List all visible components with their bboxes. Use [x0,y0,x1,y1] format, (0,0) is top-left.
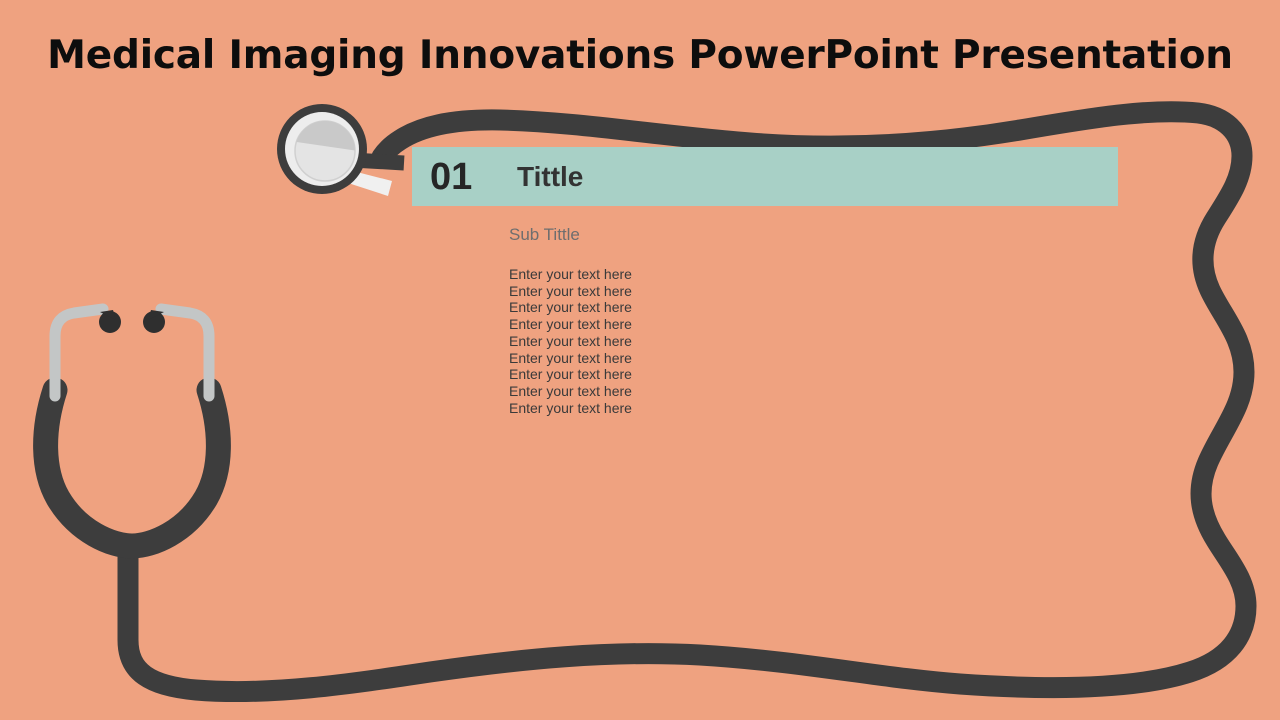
body-text-line: Enter your text here [509,283,632,300]
body-text-line: Enter your text here [509,266,632,283]
body-text-line: Enter your text here [509,333,632,350]
body-text-line: Enter your text here [509,366,632,383]
page-title: Medical Imaging Innovations PowerPoint P… [0,33,1280,78]
body-text-line: Enter your text here [509,299,632,316]
sub-title: Sub Tittle [509,224,580,246]
section-title-label: Tittle [517,161,583,193]
slide-artwork [0,0,1280,720]
presentation-slide: Medical Imaging Innovations PowerPoint P… [0,0,1280,720]
body-text-line: Enter your text here [509,400,632,417]
body-text-line: Enter your text here [509,383,632,400]
section-title-bar: 01 Tittle [412,147,1118,206]
body-text-block: Enter your text hereEnter your text here… [509,266,632,416]
body-text-line: Enter your text here [509,350,632,367]
stethoscope-earpieces-icon [46,309,219,546]
section-number: 01 [430,156,472,198]
body-text-line: Enter your text here [509,316,632,333]
